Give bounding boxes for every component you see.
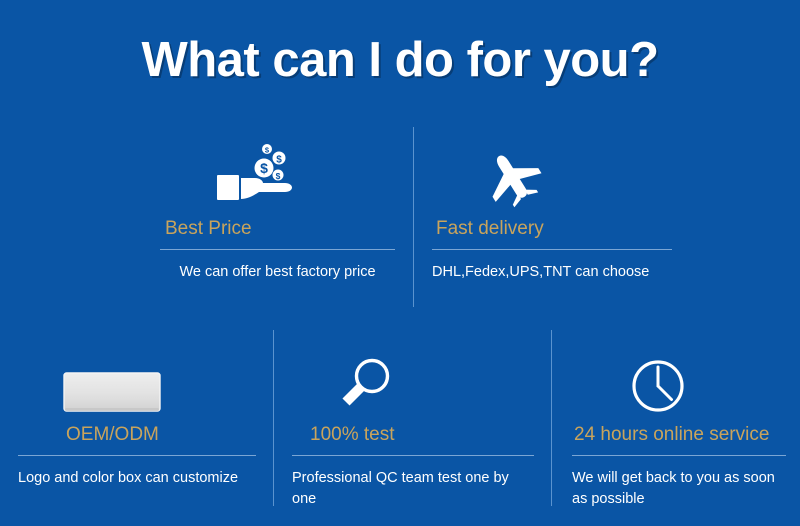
blank-box-icon [62,370,162,414]
feature-description: We will get back to you as soon as possi… [572,468,786,510]
heading-underline [18,455,256,456]
icon-container [432,136,672,208]
feature-card-oem-odm: OEM/ODM Logo and color box can customize [18,342,256,489]
heading-underline [432,249,672,250]
feature-heading: 24 hours online service [572,423,786,447]
icon-container: $ $ $ $ [160,136,395,208]
feature-card-best-price: $ $ $ $ Best Price We can offer best fac… [160,136,395,283]
heading-underline [292,455,534,456]
magnifier-icon [334,356,396,414]
feature-heading: 100% test [292,423,534,447]
feature-description: Logo and color box can customize [18,468,256,489]
clock-icon [630,358,686,414]
svg-text:$: $ [276,155,282,166]
feature-card-24-hours-service: 24 hours online service We will get back… [572,342,786,510]
svg-text:$: $ [276,171,281,181]
icon-container [572,342,786,414]
icon-container [18,342,256,414]
icon-container [292,342,534,414]
hand-with-coins-icon: $ $ $ $ [215,142,307,208]
heading-underline [572,455,786,456]
page-title: What can I do for you? [0,31,800,89]
feature-heading: Fast delivery [432,217,672,241]
feature-card-100-percent-test: 100% test Professional QC team test one … [292,342,534,510]
feature-heading: OEM/ODM [18,423,256,447]
heading-underline [160,249,395,250]
feature-description: DHL,Fedex,UPS,TNT can choose [432,262,672,283]
column-divider-top [413,127,414,307]
service-promo-banner: What can I do for you? [0,0,800,526]
airplane-icon [482,148,548,208]
svg-text:$: $ [260,160,268,176]
column-divider-bottom-right [551,330,552,506]
feature-card-fast-delivery: Fast delivery DHL,Fedex,UPS,TNT can choo… [432,136,672,283]
feature-description: We can offer best factory price [160,262,395,283]
column-divider-bottom-left [273,330,274,506]
feature-heading: Best Price [160,217,395,241]
feature-description: Professional QC team test one by one [292,468,534,510]
